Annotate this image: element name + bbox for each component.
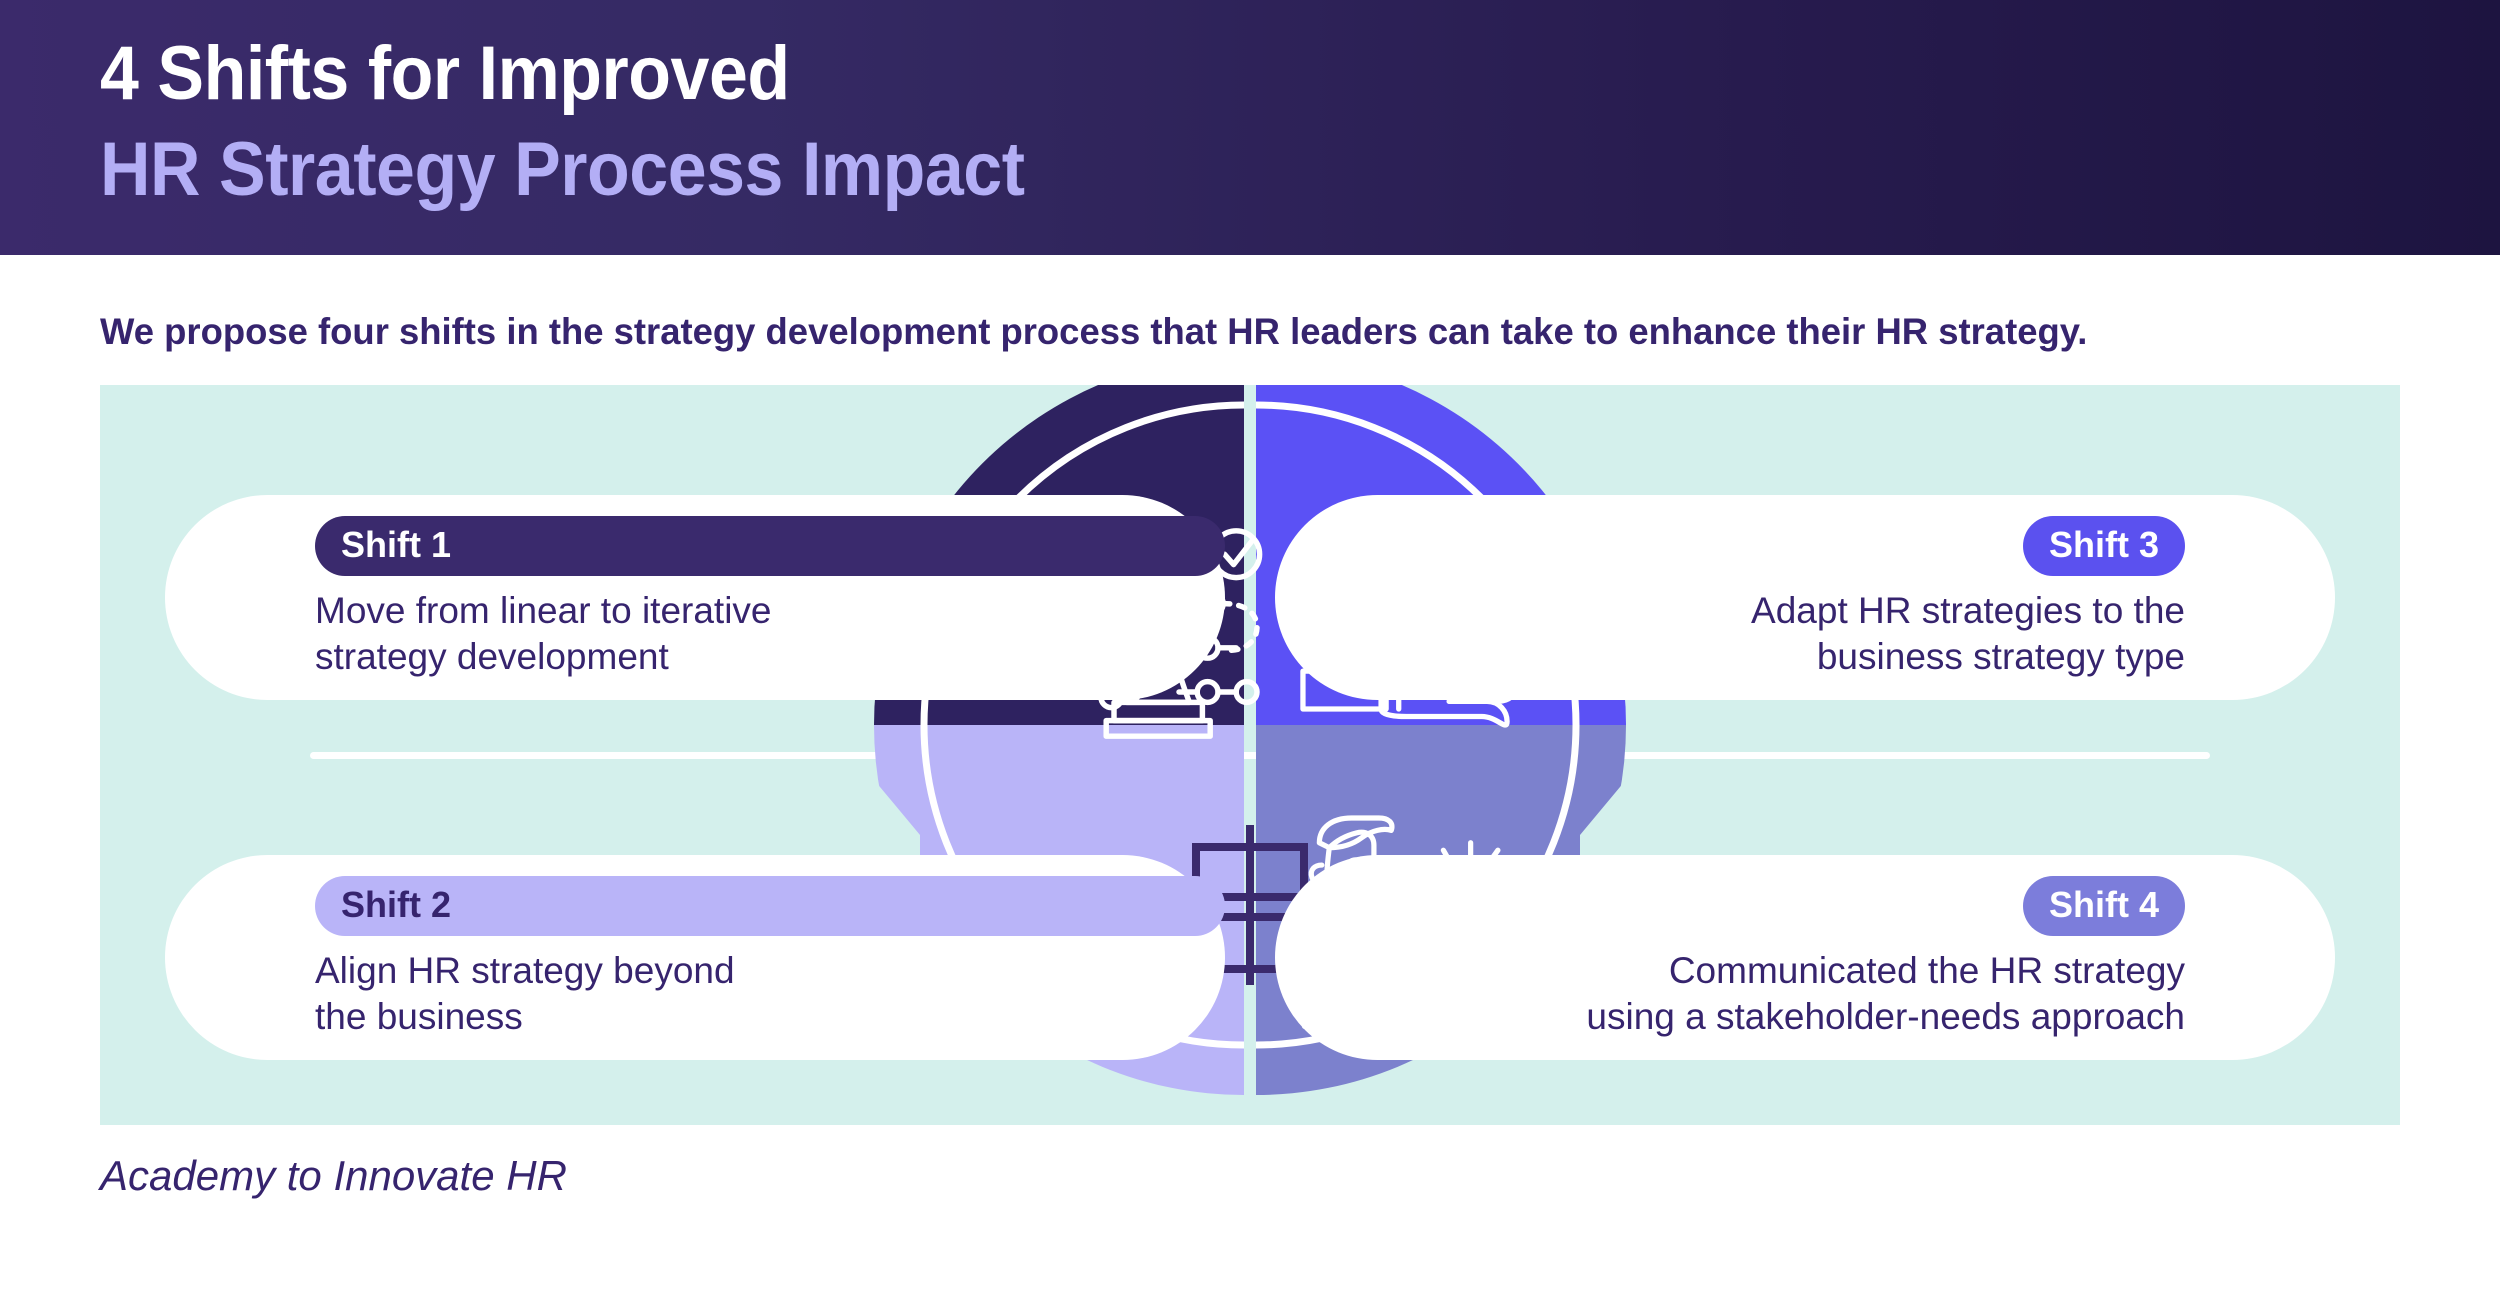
shift-2-text: Align HR strategy beyond the business	[315, 948, 1225, 1040]
diagram-panel: Shift 1 Move from linear to iterative st…	[100, 385, 2400, 1125]
subtitle: We propose four shifts in the strategy d…	[100, 310, 2087, 354]
page-title-line-2: HR Strategy Process Impact	[100, 122, 1025, 218]
shift-card-4[interactable]: Shift 4 Communicated the HR strategy usi…	[1275, 855, 2335, 1060]
shift-4-badge: Shift 4	[2023, 876, 2185, 936]
shift-3-badge: Shift 3	[2023, 516, 2185, 576]
page-header: 4 Shifts for Improved HR Strategy Proces…	[0, 0, 2500, 255]
shift-4-text: Communicated the HR strategy using a sta…	[1586, 948, 2185, 1040]
shift-2-badge: Shift 2	[315, 876, 1225, 936]
shift-card-3[interactable]: Shift 3 Adapt HR strategies to the busin…	[1275, 495, 2335, 700]
shift-card-2[interactable]: Shift 2 Align HR strategy beyond the bus…	[165, 855, 1225, 1060]
shift-1-text: Move from linear to iterative strategy d…	[315, 588, 1225, 680]
page-title-line-1: 4 Shifts for Improved	[100, 26, 1025, 122]
shift-card-1[interactable]: Shift 1 Move from linear to iterative st…	[165, 495, 1225, 700]
shift-1-badge: Shift 1	[315, 516, 1225, 576]
footer-brand: Academy to Innovate HR	[100, 1150, 567, 1202]
page-title: 4 Shifts for Improved HR Strategy Proces…	[100, 26, 1105, 218]
shift-3-text: Adapt HR strategies to the business stra…	[1751, 588, 2185, 680]
